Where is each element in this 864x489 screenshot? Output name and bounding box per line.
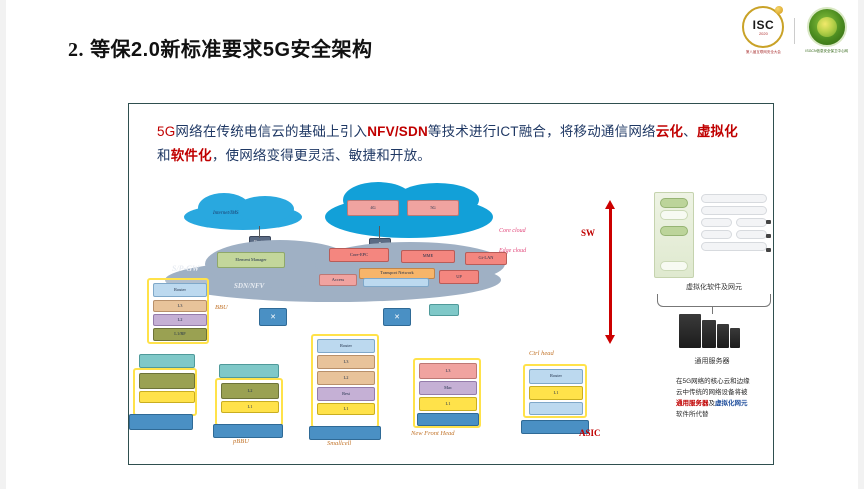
note-line-1: 在5G网络的核心云和边缘 xyxy=(676,378,750,385)
vnf-bar-6 xyxy=(736,230,767,239)
edge-node-mme: MME xyxy=(401,250,455,263)
slide-canvas: ISC 2020 第八届互联网安全大会 ISGCN信息安全保卫中心网 2. 等保… xyxy=(0,0,864,489)
edge-node-up: UP xyxy=(439,270,479,284)
intro-seg-11: ，使网络变得更灵活、敏捷和开放。 xyxy=(212,148,431,163)
bbu-layer-l3: L3 xyxy=(153,300,207,312)
connector-router1 xyxy=(259,226,260,238)
vnf-caption: 虚拟化软件及网元 xyxy=(649,282,779,292)
newfronthead-label: New Front Head xyxy=(411,430,454,437)
bbu-layer-router: Router xyxy=(153,283,207,297)
bbu-stack: Router L3 L2 L1/RF xyxy=(147,278,209,344)
server-box-1 xyxy=(679,314,701,348)
page-title: 2. 等保2.0新标准要求5G安全架构 xyxy=(68,33,373,62)
intro-seg-7: 、 xyxy=(683,124,697,139)
slide-left-edge xyxy=(0,0,6,489)
intro-seg-nfvsdn: NFV/SDN xyxy=(367,124,428,139)
stack-left-layer-1 xyxy=(139,373,195,389)
nfh-layer-l3: L3 xyxy=(419,363,477,379)
isc-logo-text: ISC xyxy=(753,19,775,31)
virtualization-panel: 虚拟化软件及网元 通用服务器 在5G网络的核心云和边缘 云中传统的网络设备将被 … xyxy=(529,186,773,464)
vnf-bar-pair-1 xyxy=(701,218,767,227)
connector-router2 xyxy=(379,226,380,240)
server-caption: 通用服务器 xyxy=(647,356,777,366)
vnf-bar-4 xyxy=(736,218,767,227)
core-node-4g: 4G xyxy=(347,200,399,216)
pbbu-stack: L2 L1 xyxy=(215,378,283,426)
nfh-layer-mac: Mac xyxy=(419,381,477,395)
server-box-2 xyxy=(702,320,716,348)
server-box-3 xyxy=(717,324,729,348)
architecture-diagram: Internet/IMS 4G 5G Core cloud Router R E… xyxy=(129,186,773,464)
edge-node-element-manager: Element Manager xyxy=(217,252,285,268)
vnf-dot-1 xyxy=(766,220,771,224)
vnf-bar-7 xyxy=(701,242,767,251)
bbu-layer-l2: L2 xyxy=(153,314,207,326)
server-illustration xyxy=(679,314,740,348)
vnf-dot-2 xyxy=(766,234,771,238)
isc-spark-icon xyxy=(775,6,783,14)
nfh-base xyxy=(417,413,479,426)
newfronthead-stack: L3 Mac L1 xyxy=(413,358,481,428)
switch-icon-2: ✕ xyxy=(383,308,411,326)
intro-seg-softwarize: 软件化 xyxy=(171,148,212,163)
pbbu-layer-2: L1 xyxy=(221,401,279,413)
edge-node-gilan: Gi-LAN xyxy=(465,252,507,265)
core-node-5g: 5G xyxy=(407,200,459,216)
smallcell-layer-router: Router xyxy=(317,339,375,353)
note-line-4: 软件所代替 xyxy=(676,411,709,418)
isc-logo: ISC 2020 第八届互联网安全大会 xyxy=(742,6,784,55)
note-highlight-server: 通用服务器 xyxy=(676,400,709,407)
green-logo: ISGCN信息安全保卫中心网 xyxy=(805,7,848,54)
edge-node-transport-sub xyxy=(363,278,429,287)
smallcell-label: Smallcell xyxy=(327,440,351,447)
smallcell-layer-l3: L3 xyxy=(317,355,375,369)
vnf-card-row-2 xyxy=(660,210,688,220)
core-cloud-label: Core cloud xyxy=(499,228,526,234)
intro-seg-cloudify: 云化 xyxy=(656,124,683,139)
green-logo-caption: ISGCN信息安全保卫中心网 xyxy=(805,49,848,54)
vnf-bar-3 xyxy=(701,218,732,227)
intro-seg-2: 网络在传统电信云的基础上引入 xyxy=(175,124,367,139)
vnf-bar-2 xyxy=(701,206,767,215)
smallcell-layer-rest: Rest xyxy=(317,387,375,401)
edge-node-core-epc: Core-EPC xyxy=(329,248,389,262)
logo-bar: ISC 2020 第八届互联网安全大会 ISGCN信息安全保卫中心网 xyxy=(742,6,848,55)
node-teal-left xyxy=(139,354,195,368)
stack-left-bottom xyxy=(133,368,197,416)
stack-left-layer-2 xyxy=(139,391,195,403)
note-line-2: 云中传统的网络设备将被 xyxy=(676,389,748,396)
intro-seg-4: 等技术进行ICT融合，将移动通 xyxy=(428,124,615,139)
isc-logo-year: 2020 xyxy=(759,32,768,36)
sgw-label: S/P-GW xyxy=(172,264,199,273)
vnf-brace xyxy=(657,294,771,307)
vnf-card-row-3 xyxy=(660,226,688,236)
smallcell-layer-l1: L1 xyxy=(317,403,375,415)
node-pbbu-head xyxy=(219,364,279,378)
vnf-bar-pair-2 xyxy=(701,230,767,239)
vnf-card-row-4 xyxy=(660,261,688,271)
isc-logo-caption: 第八届互联网安全大会 xyxy=(746,50,781,55)
content-frame: 5G网络在传统电信云的基础上引入NFV/SDN等技术进行ICT融合，将移动通信网… xyxy=(128,103,774,465)
intro-seg-virtualize: 虚拟化 xyxy=(697,124,738,139)
vnf-element-list xyxy=(701,194,767,254)
intro-seg-5g: 5G xyxy=(157,124,175,139)
vnf-bar-5 xyxy=(701,230,732,239)
smallcell-base xyxy=(309,426,381,440)
sdn-nfv-label: SDN/NFV xyxy=(234,282,264,290)
smallcell-stack: Router L3 L2 Rest L1 xyxy=(311,334,379,428)
pbbu-layer-1: L2 xyxy=(221,383,279,399)
switch-icon-1: ✕ xyxy=(259,308,287,326)
slide-right-edge xyxy=(858,0,864,489)
green-globe-icon xyxy=(807,7,847,47)
internet-cloud-label: Internet/IMS xyxy=(213,211,239,216)
vnf-bar-1 xyxy=(701,194,767,203)
vnf-card-row-1 xyxy=(660,198,688,208)
isc-logo-icon: ISC 2020 xyxy=(742,6,784,48)
intro-seg-5: 信网络 xyxy=(615,124,656,139)
note-highlight-vnf: 虚拟化网元 xyxy=(715,400,748,407)
bbu-label: BBU xyxy=(215,304,228,311)
intro-paragraph: 5G网络在传统电信云的基础上引入NFV/SDN等技术进行ICT融合，将移动通信网… xyxy=(157,120,751,168)
nfh-layer-l1: L1 xyxy=(419,397,477,411)
logo-divider xyxy=(794,18,795,44)
node-pbbu-top xyxy=(429,304,459,316)
vnf-dots-group xyxy=(766,220,771,255)
intro-seg-9: 和 xyxy=(157,148,171,163)
pbbu-base xyxy=(213,424,283,438)
vnf-software-card xyxy=(654,192,694,278)
page-title-number: 2. xyxy=(68,39,84,61)
vnf-dot-3 xyxy=(766,248,771,252)
page-title-text: 等保2.0新标准要求5G安全架构 xyxy=(90,39,372,61)
globe-inner-icon xyxy=(817,17,837,37)
edge-node-access: Access xyxy=(319,274,357,286)
node-steel-left xyxy=(129,414,193,430)
smallcell-layer-l2: L2 xyxy=(317,371,375,385)
bbu-layer-l1: L1/RF xyxy=(153,328,207,341)
vnf-brace-tick xyxy=(712,306,713,314)
virtualization-note: 在5G网络的核心云和边缘 云中传统的网络设备将被 通用服务器及虚拟化网元 软件所… xyxy=(676,376,776,420)
pbbu-label: pBBU xyxy=(233,438,249,445)
internet-cloud xyxy=(184,204,302,230)
server-box-4 xyxy=(730,328,740,348)
